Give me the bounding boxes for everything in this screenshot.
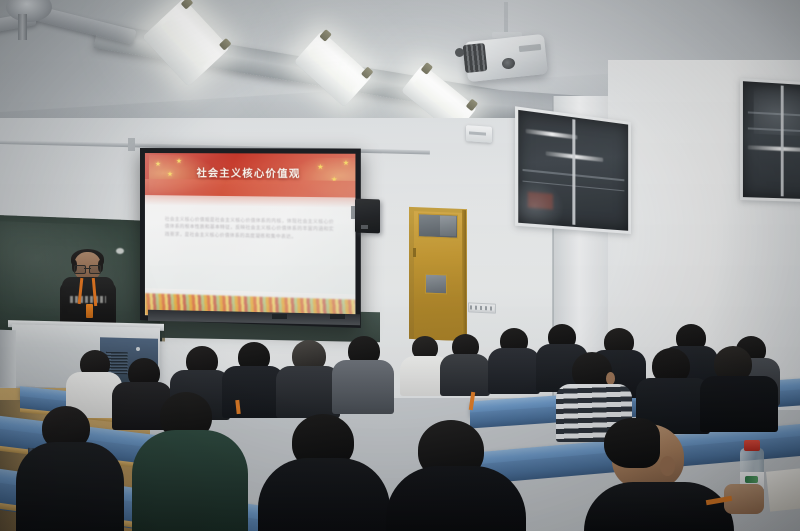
student-torso: [16, 442, 124, 531]
window-glow: [754, 82, 800, 137]
window-glow: [518, 178, 564, 226]
glasses-bridge: [84, 268, 91, 269]
speaker-badge: [361, 225, 368, 229]
student-torso: [440, 354, 490, 396]
student-torso: [386, 466, 526, 531]
projector-mount-pole: [504, 2, 508, 36]
tube-glow: [160, 13, 214, 69]
presenter: [62, 252, 114, 330]
classroom-photo: ★ ★ ★ ★ ★ ★ 社会主义核心价值观 社会主义核心价值观是社会主义核心价值…: [0, 0, 800, 531]
student-torso: [488, 348, 540, 394]
projector-vent: [463, 43, 488, 73]
slide-body-text: 社会主义核心价值观是社会主义核心价值体系的内核，体现社会主义核心价值体系的根本性…: [165, 215, 334, 241]
student-hair: [604, 418, 660, 468]
slide-banner-fade: [145, 179, 356, 208]
tray-clip: [272, 314, 287, 319]
slide-title: 社会主义核心价值观: [145, 164, 356, 181]
bottle-cap: [744, 440, 760, 451]
presentation-slide: ★ ★ ★ ★ ★ ★ 社会主义核心价值观 社会主义核心价值观是社会主义核心价值…: [145, 153, 356, 323]
presenter-shirt-graphic: [70, 296, 106, 303]
door-hinge: [413, 248, 416, 257]
student-torso: [584, 482, 734, 531]
lanyard-badge: [86, 304, 93, 318]
window-mullion: [781, 86, 784, 196]
notebook: [766, 468, 800, 511]
projection-screen: ★ ★ ★ ★ ★ ★ 社会主义核心价值观 社会主义核心价值观是社会主义核心价值…: [140, 148, 361, 328]
student-torso: [276, 366, 340, 418]
sliding-window: [515, 106, 631, 234]
window-mullion: [573, 119, 576, 224]
window-reflection-light: [525, 129, 577, 140]
student-ear: [660, 456, 675, 476]
bottle-label-graphic: [745, 476, 758, 483]
podium-indicator-light: [136, 347, 140, 351]
window-reflection-light: [747, 145, 800, 152]
student-torso: [258, 458, 390, 531]
ceiling-fan-stem: [18, 14, 27, 40]
tray-clip: [330, 314, 345, 319]
screen-rail-bracket: [128, 138, 135, 151]
door-vision-panel: [425, 274, 447, 295]
student-torso: [700, 376, 778, 432]
door-transom-pane: [440, 216, 456, 237]
sliding-window: [740, 78, 800, 203]
student-torso-green: [132, 430, 248, 531]
student-torso: [332, 360, 394, 414]
student-torso: [222, 366, 284, 418]
chalk-mark: [116, 248, 124, 254]
door-jamb: [462, 210, 466, 340]
podium-side: [0, 330, 16, 388]
projector-knob: [455, 48, 464, 57]
